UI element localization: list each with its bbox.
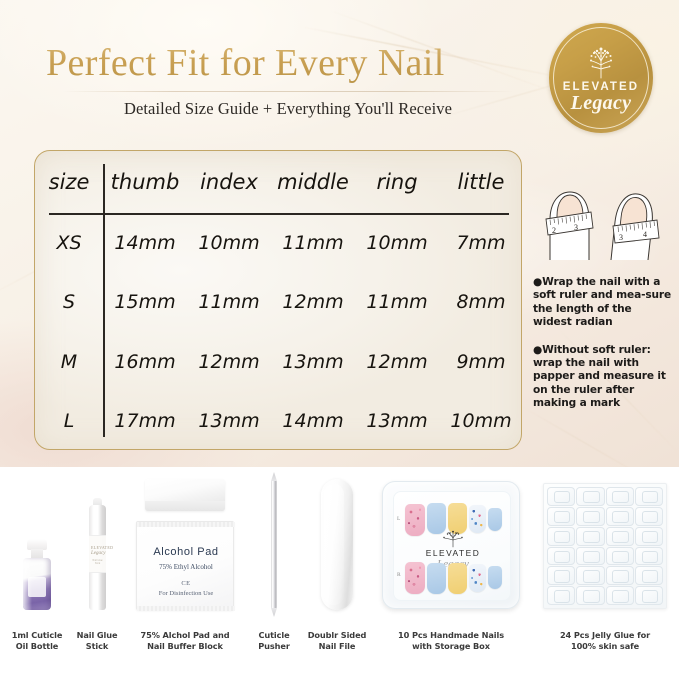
nail-swatch xyxy=(448,563,467,594)
cell-ring: 12mm xyxy=(355,332,439,392)
storage-box-insert: L R xyxy=(393,491,511,601)
packet-ce-mark: CE xyxy=(137,580,235,587)
jelly-glue-tab xyxy=(576,547,604,566)
ruler-tick-left-2: 3 xyxy=(574,223,578,232)
product-caption: 10 Pcs Handmade Nailswith Storage Box xyxy=(370,630,532,652)
jelly-glue-tab xyxy=(606,527,634,546)
cell-ring: 13mm xyxy=(355,392,439,451)
included-items-strip: 1ml CuticleOil Bottle ELEVATED Legacy Na… xyxy=(0,467,679,679)
cuticle-oil-bottle-icon xyxy=(6,467,68,630)
table-row: M 16mm 12mm 13mm 12mm 9mm xyxy=(35,332,522,392)
measuring-instructions: 2 3 3 4 ●Wrap the nail with a soft ruler… xyxy=(533,186,673,411)
box-botanical-icon xyxy=(438,530,468,548)
cell-little: 9mm xyxy=(439,332,522,392)
nail-storage-box-icon: L R xyxy=(370,467,532,630)
product-caption: Nail GlueStick xyxy=(68,630,126,652)
cell-ring: 10mm xyxy=(355,213,439,273)
finger-measuring-diagram: 2 3 3 4 xyxy=(533,186,673,262)
table-row: L 17mm 13mm 14mm 13mm 10mm xyxy=(35,392,522,451)
jelly-glue-tab xyxy=(606,507,634,526)
product-cuticle-oil-bottle: 1ml CuticleOil Bottle xyxy=(6,467,68,652)
ruler-tick-right-2: 4 xyxy=(643,230,647,239)
size-chart-table: size thumb index middle ring little XS 1… xyxy=(35,151,522,450)
ruler-tick-right-1: 3 xyxy=(619,233,623,242)
cell-little: 7mm xyxy=(439,213,522,273)
jelly-glue-tab xyxy=(576,586,604,605)
product-caption: 24 Pcs Jelly Glue for100% skin safe xyxy=(532,630,678,652)
cell-index: 10mm xyxy=(187,213,271,273)
title-divider xyxy=(62,91,514,92)
cell-thumb: 15mm xyxy=(103,273,187,333)
packet-seal-bottom xyxy=(137,606,235,611)
nail-swatch xyxy=(469,564,486,592)
nail-glue-stick-icon: ELEVATED Legacy Nail Glue Stick xyxy=(68,467,126,630)
jelly-glue-tab xyxy=(606,487,634,506)
column-header-little: little xyxy=(439,151,522,213)
jelly-glue-tab xyxy=(547,566,575,585)
instruction-bullet-1: ●Wrap the nail with a soft ruler and mea… xyxy=(533,276,673,330)
jelly-glue-tab xyxy=(576,527,604,546)
column-header-index: index xyxy=(187,151,271,213)
jelly-glue-sheet-icon xyxy=(532,467,678,630)
table-row: XS 14mm 10mm 11mm 10mm 7mm xyxy=(35,213,522,273)
nail-swatch xyxy=(488,566,502,589)
product-caption: 75% Alchol Pad andNail Buffer Block xyxy=(126,630,244,652)
nail-swatch xyxy=(427,563,446,594)
table-row: S 15mm 11mm 12mm 11mm 8mm xyxy=(35,273,522,333)
nail-swatch xyxy=(405,504,425,536)
jelly-glue-tab xyxy=(635,566,663,585)
packet-usage-note: For Disinfection Use xyxy=(137,590,235,597)
jelly-glue-sheet xyxy=(543,483,667,609)
packet-title: Alcohol Pad xyxy=(137,546,235,558)
product-double-sided-nail-file: Doublr SidedNail File xyxy=(304,467,370,652)
cell-thumb: 16mm xyxy=(103,332,187,392)
cell-size: S xyxy=(35,273,103,333)
nail-row-label-left: L xyxy=(397,516,400,522)
file-body xyxy=(321,479,353,610)
file-highlight xyxy=(324,484,344,605)
table-header-row: size thumb index middle ring little xyxy=(35,151,522,213)
cell-middle: 11mm xyxy=(271,213,355,273)
jelly-glue-tab xyxy=(576,566,604,585)
cell-index: 11mm xyxy=(187,273,271,333)
marble-vein xyxy=(520,405,679,467)
storage-box-lid: L R xyxy=(382,481,520,609)
cell-thumb: 17mm xyxy=(103,392,187,451)
ruler-tick-left-1: 2 xyxy=(552,226,556,235)
jelly-glue-tab xyxy=(547,487,575,506)
jelly-glue-tab xyxy=(606,586,634,605)
buffer-stripe xyxy=(145,501,225,511)
column-header-middle: middle xyxy=(271,151,355,213)
nail-file-icon xyxy=(304,467,370,630)
packet-subtitle: 75% Ethyl Alcohol xyxy=(137,563,235,571)
jelly-glue-tab xyxy=(635,507,663,526)
jelly-glue-tab xyxy=(635,586,663,605)
jelly-glue-tab xyxy=(547,507,575,526)
nail-row-label-right: R xyxy=(397,572,401,578)
jelly-glue-tab xyxy=(547,586,575,605)
nail-swatch xyxy=(469,505,486,533)
cell-middle: 12mm xyxy=(271,273,355,333)
cell-size: M xyxy=(35,332,103,392)
packet-seal-top xyxy=(137,522,235,527)
product-cuticle-pusher: CuticlePusher xyxy=(244,467,304,652)
jelly-glue-tab xyxy=(547,547,575,566)
column-header-size: size xyxy=(35,151,103,213)
logo-inner-ring xyxy=(553,27,649,129)
page-subtitle: Detailed Size Guide + Everything You'll … xyxy=(46,99,530,119)
brand-logo-badge: ELEVATED Legacy xyxy=(549,23,653,133)
pusher-shaft xyxy=(271,479,277,610)
column-header-thumb: thumb xyxy=(103,151,187,213)
bottle-label xyxy=(28,577,46,597)
cell-index: 13mm xyxy=(187,392,271,451)
cell-little: 10mm xyxy=(439,392,522,451)
cell-little: 8mm xyxy=(439,273,522,333)
cell-thumb: 14mm xyxy=(103,213,187,273)
cell-size: L xyxy=(35,392,103,451)
cell-ring: 11mm xyxy=(355,273,439,333)
nail-buffer-block xyxy=(145,479,225,511)
product-caption: CuticlePusher xyxy=(244,630,304,652)
infographic-page: Perfect Fit for Every Nail Detailed Size… xyxy=(0,0,679,679)
jelly-glue-tab xyxy=(576,487,604,506)
glue-label-script: Legacy xyxy=(91,551,104,556)
jelly-glue-tab xyxy=(635,487,663,506)
product-alcohol-pad-buffer: Alcohol Pad 75% Ethyl Alcohol CE For Dis… xyxy=(126,467,244,652)
glue-pen-label: ELEVATED Legacy Nail Glue Stick xyxy=(89,535,106,573)
cuticle-pusher-icon xyxy=(244,467,304,630)
cell-middle: 14mm xyxy=(271,392,355,451)
cell-size: XS xyxy=(35,213,103,273)
cell-index: 12mm xyxy=(187,332,271,392)
jelly-glue-tab xyxy=(547,527,575,546)
page-title: Perfect Fit for Every Nail xyxy=(46,41,526,85)
jelly-glue-tab xyxy=(635,527,663,546)
product-nail-glue-stick: ELEVATED Legacy Nail Glue Stick Nail Glu… xyxy=(68,467,126,652)
product-handmade-nails-box: L R xyxy=(370,467,532,652)
jelly-glue-tab xyxy=(606,566,634,585)
size-chart-card: size thumb index middle ring little XS 1… xyxy=(34,150,522,450)
product-caption: Doublr SidedNail File xyxy=(304,630,370,652)
glue-label-sub: Nail Glue Stick xyxy=(91,559,104,565)
box-brand-name: ELEVATED xyxy=(394,548,512,558)
cell-middle: 13mm xyxy=(271,332,355,392)
alcohol-pad-buffer-icon: Alcohol Pad 75% Ethyl Alcohol CE For Dis… xyxy=(126,467,244,630)
product-jelly-glue-tabs: 24 Pcs Jelly Glue for100% skin safe xyxy=(532,467,678,652)
nail-swatch xyxy=(488,508,502,531)
alcohol-pad-packet: Alcohol Pad 75% Ethyl Alcohol CE For Dis… xyxy=(136,521,234,610)
jelly-glue-tab xyxy=(576,507,604,526)
jelly-glue-tab xyxy=(606,547,634,566)
product-caption: 1ml CuticleOil Bottle xyxy=(6,630,68,652)
column-header-ring: ring xyxy=(355,151,439,213)
jelly-glue-tab xyxy=(635,547,663,566)
glue-label-brand: ELEVATED xyxy=(91,545,104,550)
nail-swatch xyxy=(405,562,425,594)
instruction-bullet-2: ●Without soft ruler: wrap the nail with … xyxy=(533,344,673,411)
